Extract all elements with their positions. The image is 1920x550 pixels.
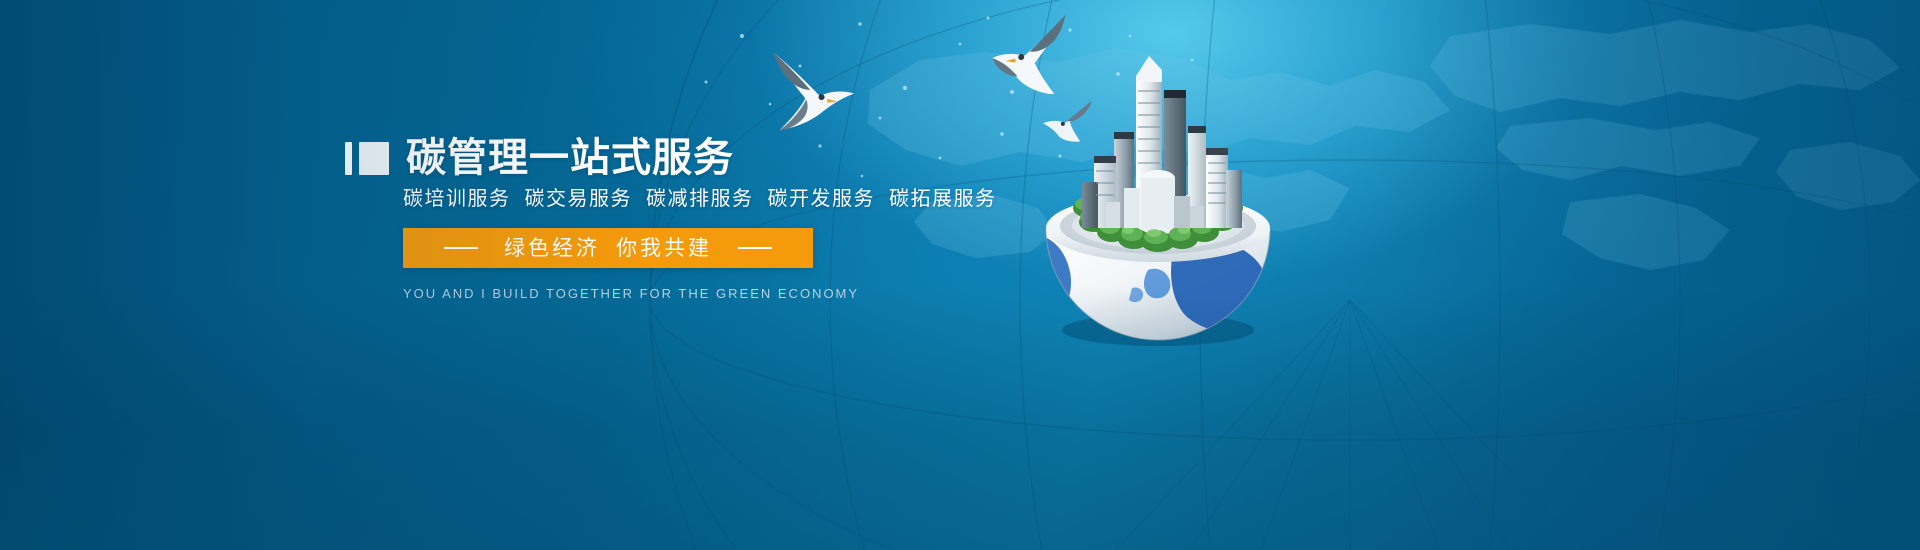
- page-title: 碳管理一站式服务: [406, 138, 734, 178]
- mark-bar: [345, 142, 352, 175]
- dash-right-icon: [738, 247, 772, 249]
- service-item-carbon-reduction: 碳减排服务: [646, 189, 754, 209]
- dash-left-icon: [444, 247, 478, 249]
- service-item-carbon-trading: 碳交易服务: [525, 189, 633, 209]
- slogan-text: 绿色经济 你我共建: [504, 238, 712, 259]
- slogan-part-build-together: 你我共建: [616, 238, 712, 259]
- banner-text-block: 碳管理一站式服务 碳培训服务 碳交易服务 碳减排服务 碳开发服务 碳拓展服务 绿…: [345, 138, 965, 300]
- service-item-carbon-training: 碳培训服务: [403, 189, 511, 209]
- service-item-carbon-development: 碳开发服务: [768, 189, 876, 209]
- service-list: 碳培训服务 碳交易服务 碳减排服务 碳开发服务 碳拓展服务: [403, 189, 965, 209]
- seagull-icon: [758, 42, 885, 144]
- seagull-icon: [1034, 95, 1098, 143]
- seagull-icon: [965, 8, 1079, 99]
- carbon-management-banner: 碳管理一站式服务 碳培训服务 碳交易服务 碳减排服务 碳开发服务 碳拓展服务 绿…: [0, 0, 1920, 550]
- bar-square-icon: [345, 142, 389, 175]
- mark-square: [359, 142, 389, 175]
- headline-row: 碳管理一站式服务: [345, 138, 965, 178]
- slogan-part-green-economy: 绿色经济: [504, 238, 600, 259]
- service-item-carbon-expansion: 碳拓展服务: [889, 189, 997, 209]
- slogan-banner: 绿色经济 你我共建: [403, 228, 813, 268]
- english-tagline: YOU AND I BUILD TOGETHER FOR THE GREEN E…: [403, 287, 813, 300]
